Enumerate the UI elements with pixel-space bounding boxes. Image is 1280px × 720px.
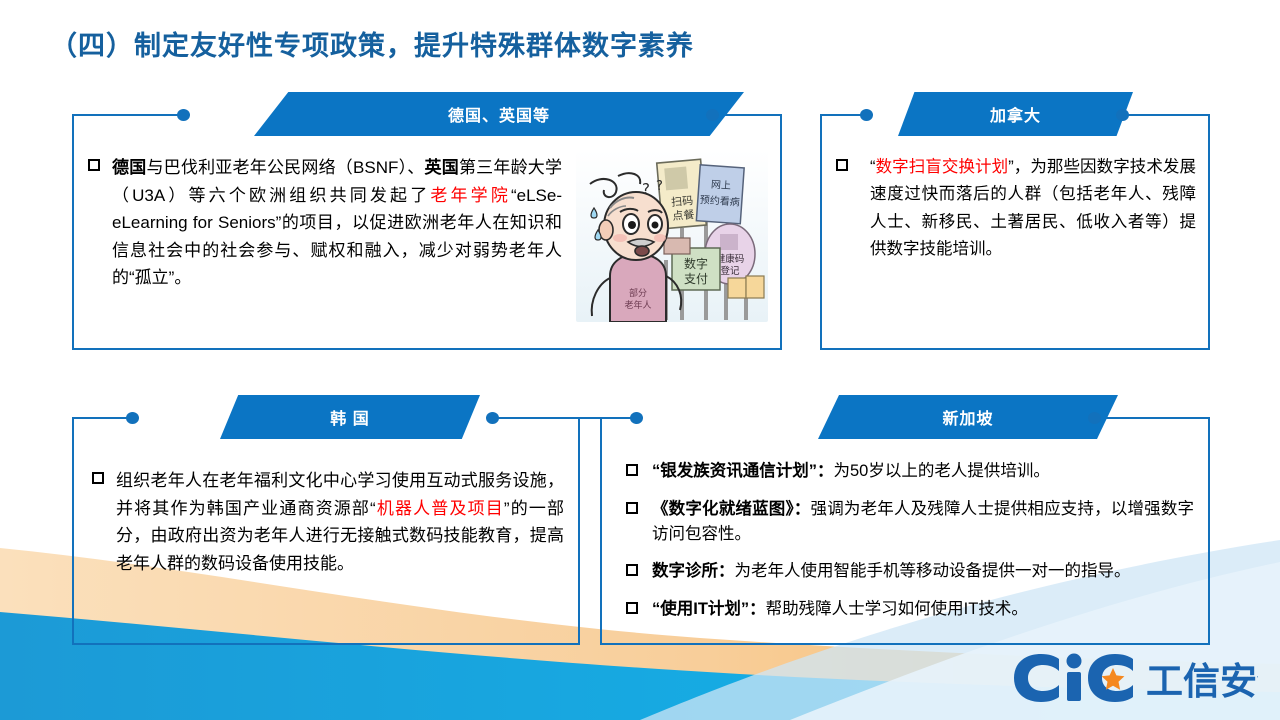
list-item: “使用IT计划”：帮助残障人士学习如何使用IT技术。: [618, 597, 1194, 622]
svg-text:老年人: 老年人: [624, 299, 651, 311]
card-korea: 韩 国 组织老年人在老年福利文化中心学习使用互动式服务设施，并将其作为韩国产业通…: [72, 395, 580, 645]
elderly-confused-qr-cartoon-icon: 扫码 点餐 网上 预约看病 健康码 登记 数字 支付: [576, 150, 768, 322]
card-header-germany-uk: 德国、英国等: [254, 92, 744, 136]
page-title: （四）制定友好性专项政策，提升特殊群体数字素养: [50, 24, 694, 63]
bullet-list: “银发族资讯通信计划”：为50岁以上的老人提供培训。 《数字化就绪蓝图》：强调为…: [618, 459, 1194, 622]
connector-line-right: [1094, 417, 1210, 419]
list-item: 数字诊所：为老年人使用智能手机等移动设备提供一对一的指导。: [618, 559, 1194, 584]
list-item: 德国与巴伐利亚老年公民网络（BSNF）、英国第三年龄大学（U3A）等六个欧洲组织…: [86, 154, 562, 292]
cic-logo: 工信安全: [1008, 650, 1258, 706]
bullet-list: 德国与巴伐利亚老年公民网络（BSNF）、英国第三年龄大学（U3A）等六个欧洲组织…: [86, 154, 562, 292]
svg-text:登记: 登记: [720, 265, 740, 277]
bullet-seg-highlight: 数字扫盲交换计划: [876, 158, 1009, 176]
bullet-seg-highlight: 老年学院: [430, 186, 511, 205]
svg-text:数字: 数字: [684, 256, 708, 271]
card-singapore: 新加坡 “银发族资讯通信计划”：为50岁以上的老人提供培训。 《数字化就绪蓝图》…: [600, 395, 1210, 645]
card-body-singapore: “银发族资讯通信计划”：为50岁以上的老人提供培训。 《数字化就绪蓝图》：强调为…: [600, 439, 1210, 645]
svg-text:?: ?: [642, 180, 650, 198]
bullet-list: 组织老年人在老年福利文化中心学习使用互动式服务设施，并将其作为韩国产业通商资源部…: [90, 467, 564, 577]
connector-dot-right: [1116, 109, 1129, 121]
bullet-seg: 《数字化就绪蓝图》：: [652, 500, 811, 518]
connector-dot-left: [630, 412, 643, 424]
svg-text:部分: 部分: [629, 287, 647, 299]
svg-text:支付: 支付: [684, 272, 708, 286]
svg-text:网上: 网上: [711, 179, 732, 192]
card-header-korea: 韩 国: [220, 395, 480, 439]
svg-text:点餐: 点餐: [672, 207, 695, 223]
bullet-seg-highlight: 机器人普及项目: [376, 499, 504, 518]
svg-text:?: ?: [656, 179, 663, 194]
bullet-seg: 为老年人使用智能手机等移动设备提供一对一的指导。: [735, 562, 1131, 580]
connector-dot-left: [860, 109, 873, 121]
bullet-seg: “银发族资讯通信计划”：: [652, 462, 834, 480]
connector-dot-right: [706, 109, 719, 121]
bullet-list: “数字扫盲交换计划”，为那些因数字技术发展速度过快而落后的人群（包括老年人、残障…: [834, 154, 1196, 264]
logo-text: 工信安全: [1146, 660, 1258, 703]
card-header-singapore: 新加坡: [818, 395, 1118, 439]
card-header-canada: 加拿大: [898, 92, 1133, 136]
bullet-seg: 德国: [112, 158, 146, 177]
connector-dot-right: [1088, 412, 1101, 424]
card-germany-uk: 德国、英国等 德国与巴伐利亚老年公民网络（BSNF）、英国第三年龄大学（U3A）…: [72, 92, 782, 350]
svg-text:扫码: 扫码: [671, 194, 694, 209]
bullet-seg: 帮助残障人士学习如何使用IT技术。: [766, 600, 1028, 618]
bullet-seg: 与巴伐利亚老年公民网络（BSNF）、: [146, 158, 424, 177]
bullet-seg: “使用IT计划”：: [652, 600, 766, 618]
card-body-canada: “数字扫盲交换计划”，为那些因数字技术发展速度过快而落后的人群（包括老年人、残障…: [820, 136, 1210, 350]
connector-line-left: [72, 114, 184, 116]
card-body-korea: 组织老年人在老年福利文化中心学习使用互动式服务设施，并将其作为韩国产业通商资源部…: [72, 439, 580, 645]
list-item: “数字扫盲交换计划”，为那些因数字技术发展速度过快而落后的人群（包括老年人、残障…: [834, 154, 1196, 264]
connector-dot-left: [126, 412, 139, 424]
connector-dot-right: [486, 412, 499, 424]
card-canada: 加拿大 “数字扫盲交换计划”，为那些因数字技术发展速度过快而落后的人群（包括老年…: [820, 92, 1210, 350]
list-item: 组织老年人在老年福利文化中心学习使用互动式服务设施，并将其作为韩国产业通商资源部…: [90, 467, 564, 577]
bullet-seg: 为50岁以上的老人提供培训。: [834, 462, 1050, 480]
connector-line-left: [72, 417, 134, 419]
list-item: “银发族资讯通信计划”：为50岁以上的老人提供培训。: [618, 459, 1194, 484]
connector-dot-left: [177, 109, 190, 121]
list-item: 《数字化就绪蓝图》：强调为老年人及残障人士提供相应支持，以增强数字访问包容性。: [618, 497, 1194, 547]
bullet-seg: 英国: [425, 158, 459, 177]
slide-root: （四）制定友好性专项政策，提升特殊群体数字素养 德国、英国等 德国与巴伐利亚老年…: [0, 0, 1280, 720]
connector-line-left: [528, 417, 638, 419]
connector-line-right: [1120, 114, 1210, 116]
bullet-seg: 数字诊所：: [652, 562, 735, 580]
